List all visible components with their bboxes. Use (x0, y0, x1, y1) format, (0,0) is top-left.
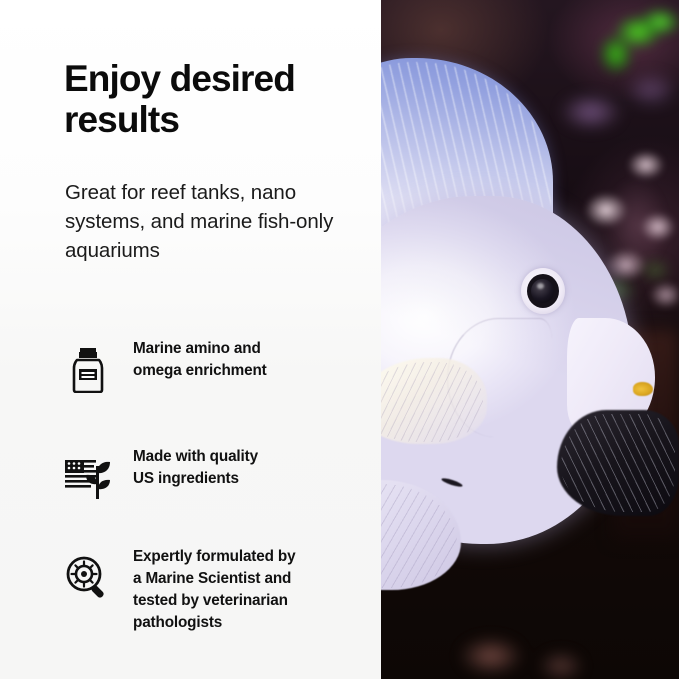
supplement-bottle-icon (62, 344, 114, 396)
promo-banner: Enjoy desired results Great for reef tan… (0, 0, 679, 679)
us-flag-plant-icon (62, 452, 114, 504)
left-content-panel: Enjoy desired results Great for reef tan… (0, 0, 381, 679)
fish-anal-fin-rays (561, 414, 675, 512)
product-lifestyle-photo (381, 0, 679, 679)
fish-lip (633, 382, 653, 396)
list-item-label: Made with quality US ingredients (133, 446, 381, 490)
fish-eye-glint (537, 283, 544, 289)
list-item: Made with quality US ingredients (0, 446, 381, 504)
magnifier-germ-icon (62, 552, 114, 604)
list-item: Marine amino and omega enrichment (0, 338, 381, 396)
page-title: Enjoy desired results (64, 58, 364, 141)
list-item-label: Marine amino and omega enrichment (133, 338, 381, 382)
list-item-label: Expertly formulated by a Marine Scientis… (133, 546, 381, 633)
list-item: Expertly formulated by a Marine Scientis… (0, 546, 381, 633)
bottom-coral (421, 600, 651, 679)
page-subtitle: Great for reef tanks, nano systems, and … (65, 178, 355, 265)
fish-pectoral-fin-rays (381, 362, 483, 442)
